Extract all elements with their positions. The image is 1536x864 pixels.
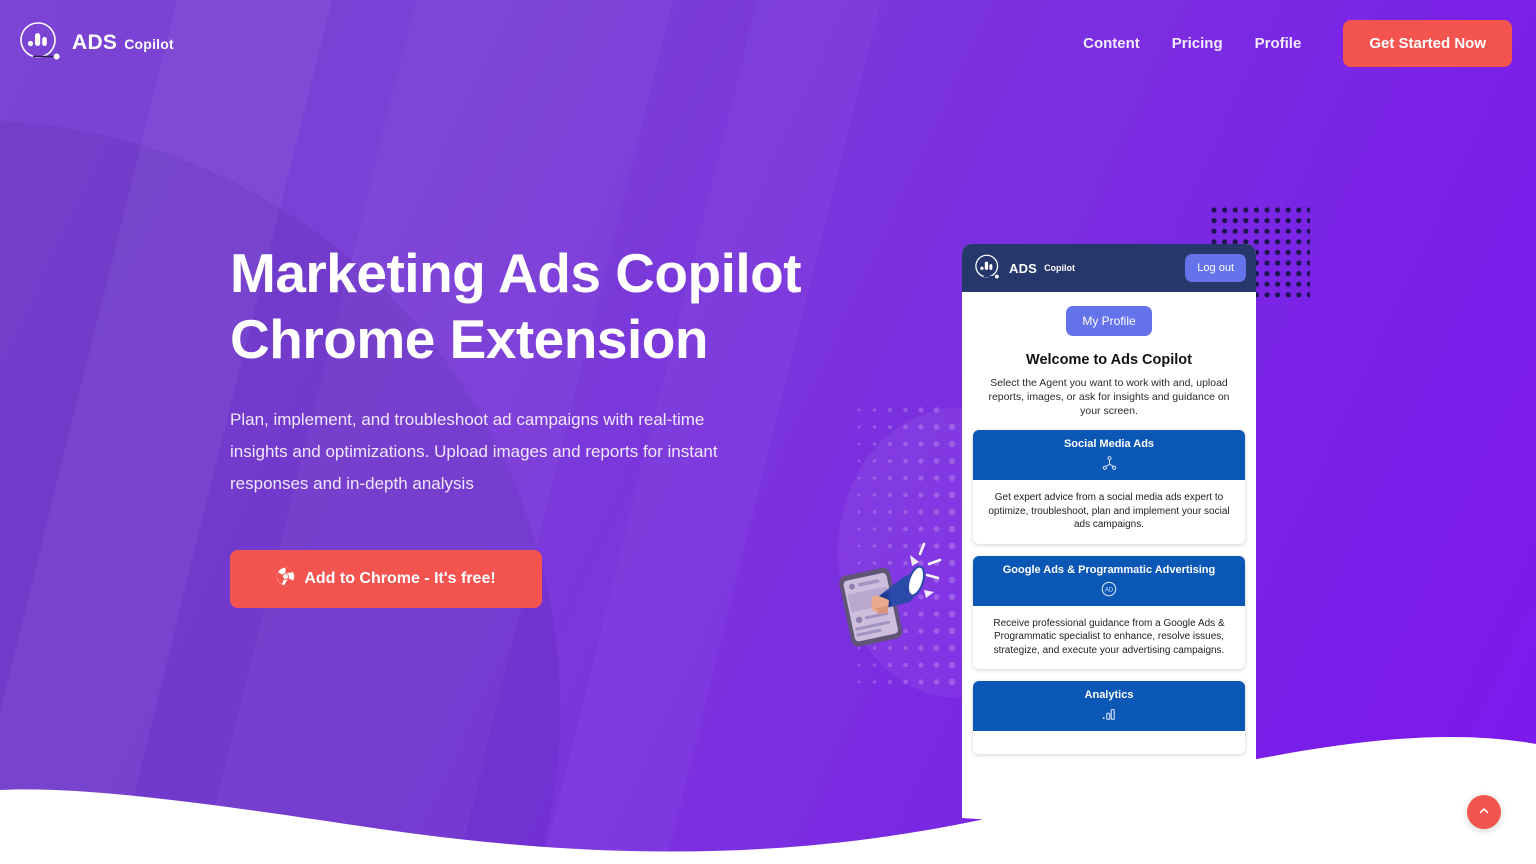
logout-button[interactable]: Log out bbox=[1185, 254, 1246, 282]
svg-text:AD: AD bbox=[1105, 587, 1114, 593]
get-started-button[interactable]: Get Started Now bbox=[1343, 20, 1512, 67]
agent-card-description bbox=[973, 731, 1245, 754]
ads-copilot-logo-icon bbox=[974, 254, 1002, 282]
scroll-to-top-button[interactable] bbox=[1467, 795, 1501, 829]
ad-badge-icon: AD bbox=[979, 580, 1239, 598]
network-share-icon bbox=[979, 454, 1239, 472]
chrome-icon bbox=[276, 567, 295, 591]
main-nav: Content Pricing Profile Get Started Now bbox=[1067, 20, 1512, 67]
nav-item-content[interactable]: Content bbox=[1067, 25, 1156, 62]
agent-card-title: Analytics bbox=[979, 688, 1239, 702]
extension-brand-primary: ADS bbox=[1009, 261, 1037, 276]
bar-chart-icon bbox=[979, 705, 1239, 723]
megaphone-phone-illustration bbox=[836, 528, 946, 648]
hero-subtitle: Plan, implement, and troubleshoot ad cam… bbox=[230, 404, 760, 500]
agent-card-header: Google Ads & Programmatic Advertising AD bbox=[973, 556, 1245, 606]
chevron-up-icon bbox=[1477, 804, 1491, 821]
agent-card-title: Google Ads & Programmatic Advertising bbox=[979, 563, 1239, 577]
hero-title: Marketing Ads Copilot Chrome Extension bbox=[230, 240, 830, 372]
ads-copilot-logo-icon bbox=[18, 21, 62, 65]
landing-page: ADS Copilot Content Pricing Profile Get … bbox=[0, 0, 1536, 864]
add-to-chrome-button[interactable]: Add to Chrome - It's free! bbox=[230, 550, 542, 608]
brand-name-secondary: Copilot bbox=[124, 36, 174, 52]
agent-card-header: Analytics bbox=[973, 681, 1245, 731]
agent-card-header: Social Media Ads bbox=[973, 430, 1245, 480]
nav-item-pricing[interactable]: Pricing bbox=[1156, 25, 1239, 62]
my-profile-button[interactable]: My Profile bbox=[1066, 306, 1151, 336]
extension-welcome-title: Welcome to Ads Copilot bbox=[973, 352, 1245, 368]
extension-body: My Profile Welcome to Ads Copilot Select… bbox=[962, 292, 1256, 754]
hero-content: Marketing Ads Copilot Chrome Extension P… bbox=[230, 240, 830, 608]
agent-card-analytics[interactable]: Analytics bbox=[973, 681, 1245, 754]
nav-item-profile[interactable]: Profile bbox=[1239, 25, 1318, 62]
agent-card-description: Get expert advice from a social media ad… bbox=[973, 480, 1245, 544]
extension-brand: ADS Copilot bbox=[974, 254, 1075, 282]
brand-logo[interactable]: ADS Copilot bbox=[16, 21, 174, 65]
extension-brand-secondary: Copilot bbox=[1044, 263, 1075, 273]
extension-mockup: ADS Copilot Log out My Profile Welcome t… bbox=[962, 244, 1256, 844]
extension-header: ADS Copilot Log out bbox=[962, 244, 1256, 292]
agent-card-google-ads[interactable]: Google Ads & Programmatic Advertising AD… bbox=[973, 556, 1245, 670]
site-header: ADS Copilot Content Pricing Profile Get … bbox=[0, 0, 1536, 86]
agent-card-title: Social Media Ads bbox=[979, 437, 1239, 451]
agent-card-description: Receive professional guidance from a Goo… bbox=[973, 606, 1245, 670]
add-to-chrome-label: Add to Chrome - It's free! bbox=[304, 570, 495, 588]
agent-card-social-media-ads[interactable]: Social Media Ads Get bbox=[973, 430, 1245, 544]
extension-welcome-description: Select the Agent you want to work with a… bbox=[973, 376, 1245, 418]
brand-name-primary: ADS bbox=[72, 31, 117, 55]
